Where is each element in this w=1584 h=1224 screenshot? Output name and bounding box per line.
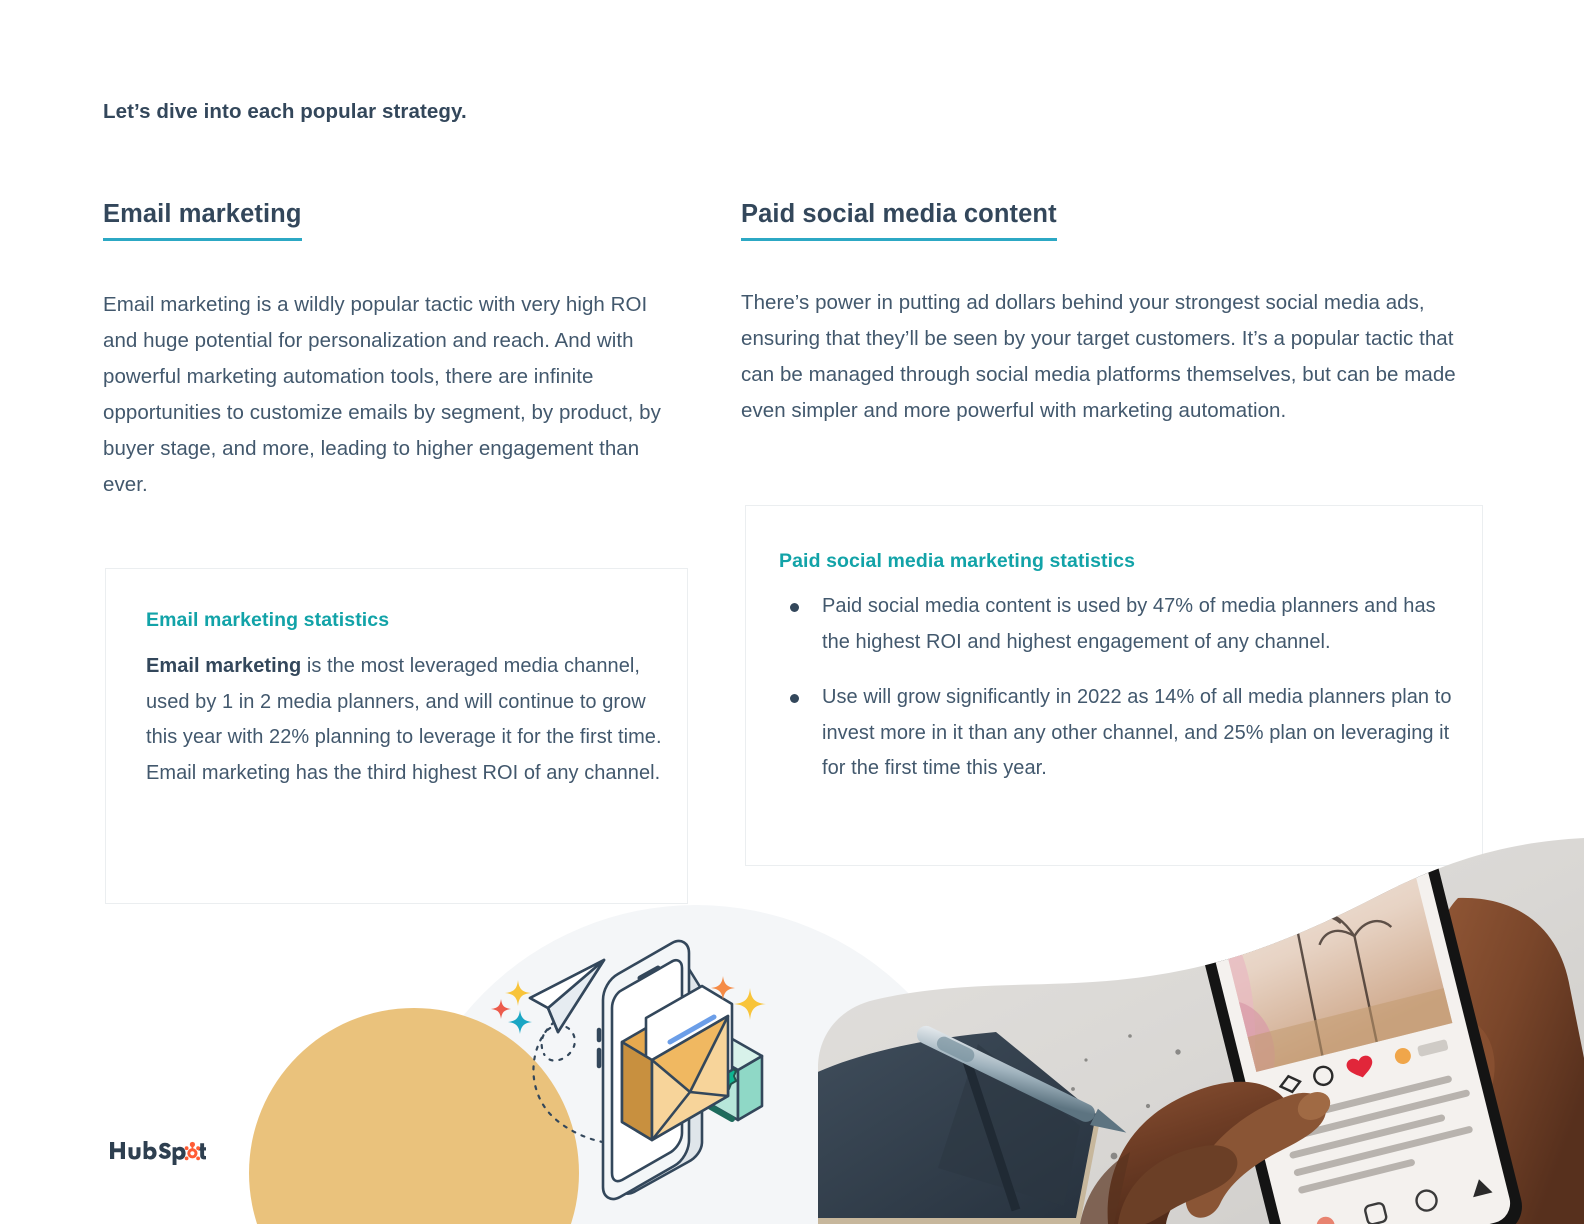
stat-box-paid-social-media: Paid social media marketing statistics P… xyxy=(745,505,1483,866)
list-item: Paid social media content is used by 47%… xyxy=(779,589,1452,660)
stat-paragraph-email-marketing: Email marketing is the most leveraged me… xyxy=(106,632,687,791)
document-page: Let’s dive into each popular strategy. E… xyxy=(0,0,1584,1224)
stat-paragraph-lead: Email marketing xyxy=(146,655,301,677)
stat-bullet-list: Paid social media content is used by 47%… xyxy=(746,573,1482,787)
section-heading-email-marketing: Email marketing xyxy=(103,200,302,241)
column-email-marketing: Email marketing Email marketing is a wil… xyxy=(103,200,689,503)
intro-line: Let’s dive into each popular strategy. xyxy=(103,100,467,124)
hubspot-logo xyxy=(110,1139,206,1165)
column-paid-social-media: Paid social media content There’s power … xyxy=(741,200,1485,429)
list-item-text: Paid social media content is used by 47%… xyxy=(822,595,1436,653)
bullet-dot-icon xyxy=(790,603,799,612)
bullet-dot-icon xyxy=(790,694,799,703)
section-body-email-marketing: Email marketing is a wildly popular tact… xyxy=(103,287,673,503)
stat-box-email-marketing: Email marketing statistics Email marketi… xyxy=(105,568,688,904)
email-on-phone-illustration xyxy=(470,920,810,1220)
hands-holding-phone-social-feed-photo xyxy=(818,838,1584,1224)
section-body-paid-social-media: There’s power in putting ad dollars behi… xyxy=(741,285,1481,429)
list-item: Use will grow significantly in 2022 as 1… xyxy=(779,680,1452,787)
stat-title-email-marketing: Email marketing statistics xyxy=(106,569,687,632)
section-heading-paid-social-media: Paid social media content xyxy=(741,200,1057,241)
list-item-text: Use will grow significantly in 2022 as 1… xyxy=(822,686,1452,779)
stat-title-paid-social-media: Paid social media marketing statistics xyxy=(746,506,1482,573)
